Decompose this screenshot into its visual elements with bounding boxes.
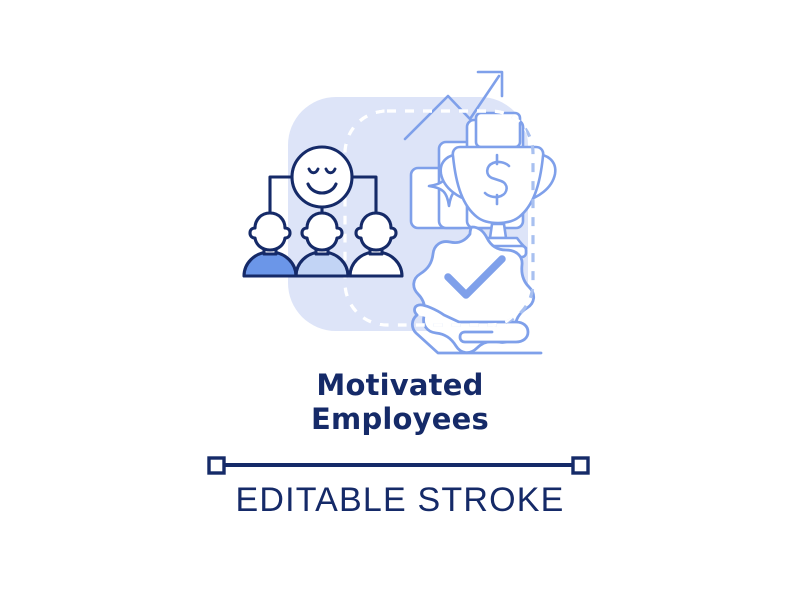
editable-stroke-label: EDITABLE STROKE <box>235 481 564 519</box>
stroke-label-wrapper: EDITABLE STROKE <box>0 481 800 520</box>
employee-head <box>250 213 290 250</box>
leader-head <box>292 147 352 207</box>
stroke-handle-right[interactable] <box>573 458 588 473</box>
stroke-handle-left[interactable] <box>209 458 224 473</box>
trophy-stem <box>490 224 506 238</box>
icon-preview-canvas: Motivated Employees EDITABLE STROKE <box>0 0 800 600</box>
editable-stroke-indicator[interactable] <box>209 458 588 473</box>
